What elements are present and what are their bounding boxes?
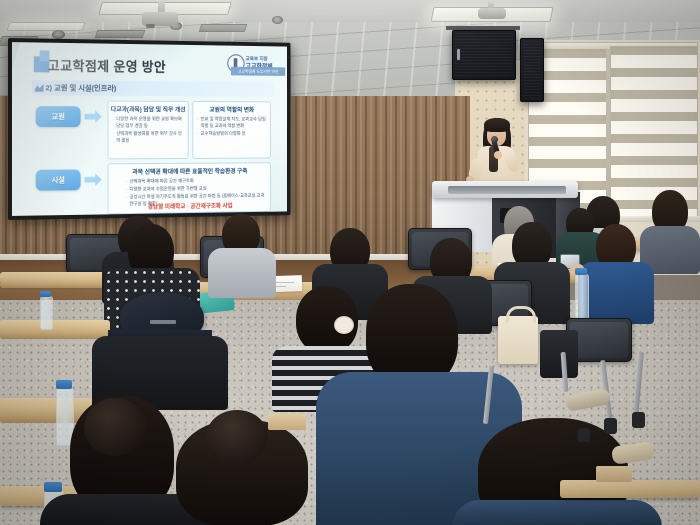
blind-slats-2	[611, 46, 697, 218]
projector-lens	[146, 24, 155, 28]
content-box-2-bullets: 진로 및 학업설계 지도, 교과교사·담임 역할 등 교과의 역할 변화 교수학…	[193, 116, 270, 137]
bullet: 진로 및 학업설계 지도, 교과교사·담임 역할 등 교과의 역할 변화	[201, 116, 268, 129]
audience-body-mid-r1	[578, 262, 654, 324]
presenter-hand-right	[494, 151, 502, 159]
chair-pad	[570, 322, 628, 358]
bullet: 교수학습방법의 다양화 등	[201, 131, 268, 138]
bottle-cap-front-left-3	[44, 482, 62, 492]
bullet: 선택과목 확대에 따른 공간 재구조화	[129, 178, 267, 186]
tote-bag	[498, 316, 538, 364]
speaker-badge-left	[457, 49, 460, 60]
bottle-cap-mid-right	[575, 268, 587, 275]
desk-edge-front-left-1	[0, 333, 110, 339]
desk-front-left-1	[0, 320, 110, 334]
projection-screen: 고교학점제 운영 방안 교육부 지정 고교학점제 고교학점제 도입기반 마련 2…	[12, 42, 287, 216]
bottle-cap-front-left-1	[40, 291, 51, 297]
audience-body-mid-l2	[208, 248, 276, 298]
wooden-box-right	[596, 466, 632, 482]
presenter-hair-fringe	[484, 118, 510, 132]
speaker-grill-left	[455, 33, 513, 77]
dark-bag	[540, 330, 578, 378]
ceiling-speaker-1	[52, 30, 65, 39]
content-box-3-highlight: 경남형 미래학교 · 공간재구조화 사업	[109, 200, 270, 211]
audience-shoulder-front-right	[452, 500, 662, 525]
hair-bun-left	[84, 398, 146, 456]
chair-caster-2	[632, 412, 645, 428]
ceiling-vent-2	[95, 30, 146, 38]
tote-bag-handle	[506, 306, 536, 323]
lecture-hall-photo: 고교학점제 운영 방안 교육부 지정 고교학점제 고교학점제 도입기반 마련 2…	[0, 0, 700, 525]
chair-caster-3	[578, 428, 590, 442]
blind-divider	[606, 49, 610, 217]
ceiling-projector-2	[478, 8, 506, 19]
desk-front-right	[560, 480, 700, 498]
slide-ribbon-text: 고교학점제 도입기반 마련	[231, 67, 285, 76]
hair-tie-striped	[334, 316, 354, 334]
wooden-box-left	[268, 414, 306, 430]
logo-org-label: 교육부 지정	[246, 56, 268, 63]
window-blind-2	[610, 46, 698, 218]
slide-logo-ribbon: 고교학점제 도입기반 마련	[231, 67, 285, 76]
podium-top-lip	[448, 186, 566, 194]
speaker-grill-right	[523, 41, 541, 99]
projection-screen-frame: 고교학점제 운영 방안 교육부 지정 고교학점제 고교학점제 도입기반 마련 2…	[8, 38, 291, 220]
ceiling-speaker-3	[272, 16, 283, 24]
water-bottle-front-left-1	[40, 296, 53, 330]
wall-speaker-right	[520, 38, 544, 102]
chair-caster-1	[604, 418, 617, 434]
slide-content-box-2: 교원의 역할의 변화 진로 및 학업설계 지도, 교과교사·담임 역할 등 교과…	[192, 101, 270, 159]
ceiling-light-3	[6, 22, 86, 31]
hair-bun-center	[206, 410, 268, 464]
content-box-2-heading: 교원의 역할의 변화	[193, 102, 270, 114]
wall-speaker-left	[452, 30, 516, 80]
microphone-head-icon	[491, 136, 498, 143]
cap-logo-icon	[150, 320, 176, 324]
water-bottle-mid-right	[575, 274, 589, 320]
bottle-cap-front-left-2	[56, 380, 72, 389]
ceiling-vent-3	[199, 24, 248, 32]
